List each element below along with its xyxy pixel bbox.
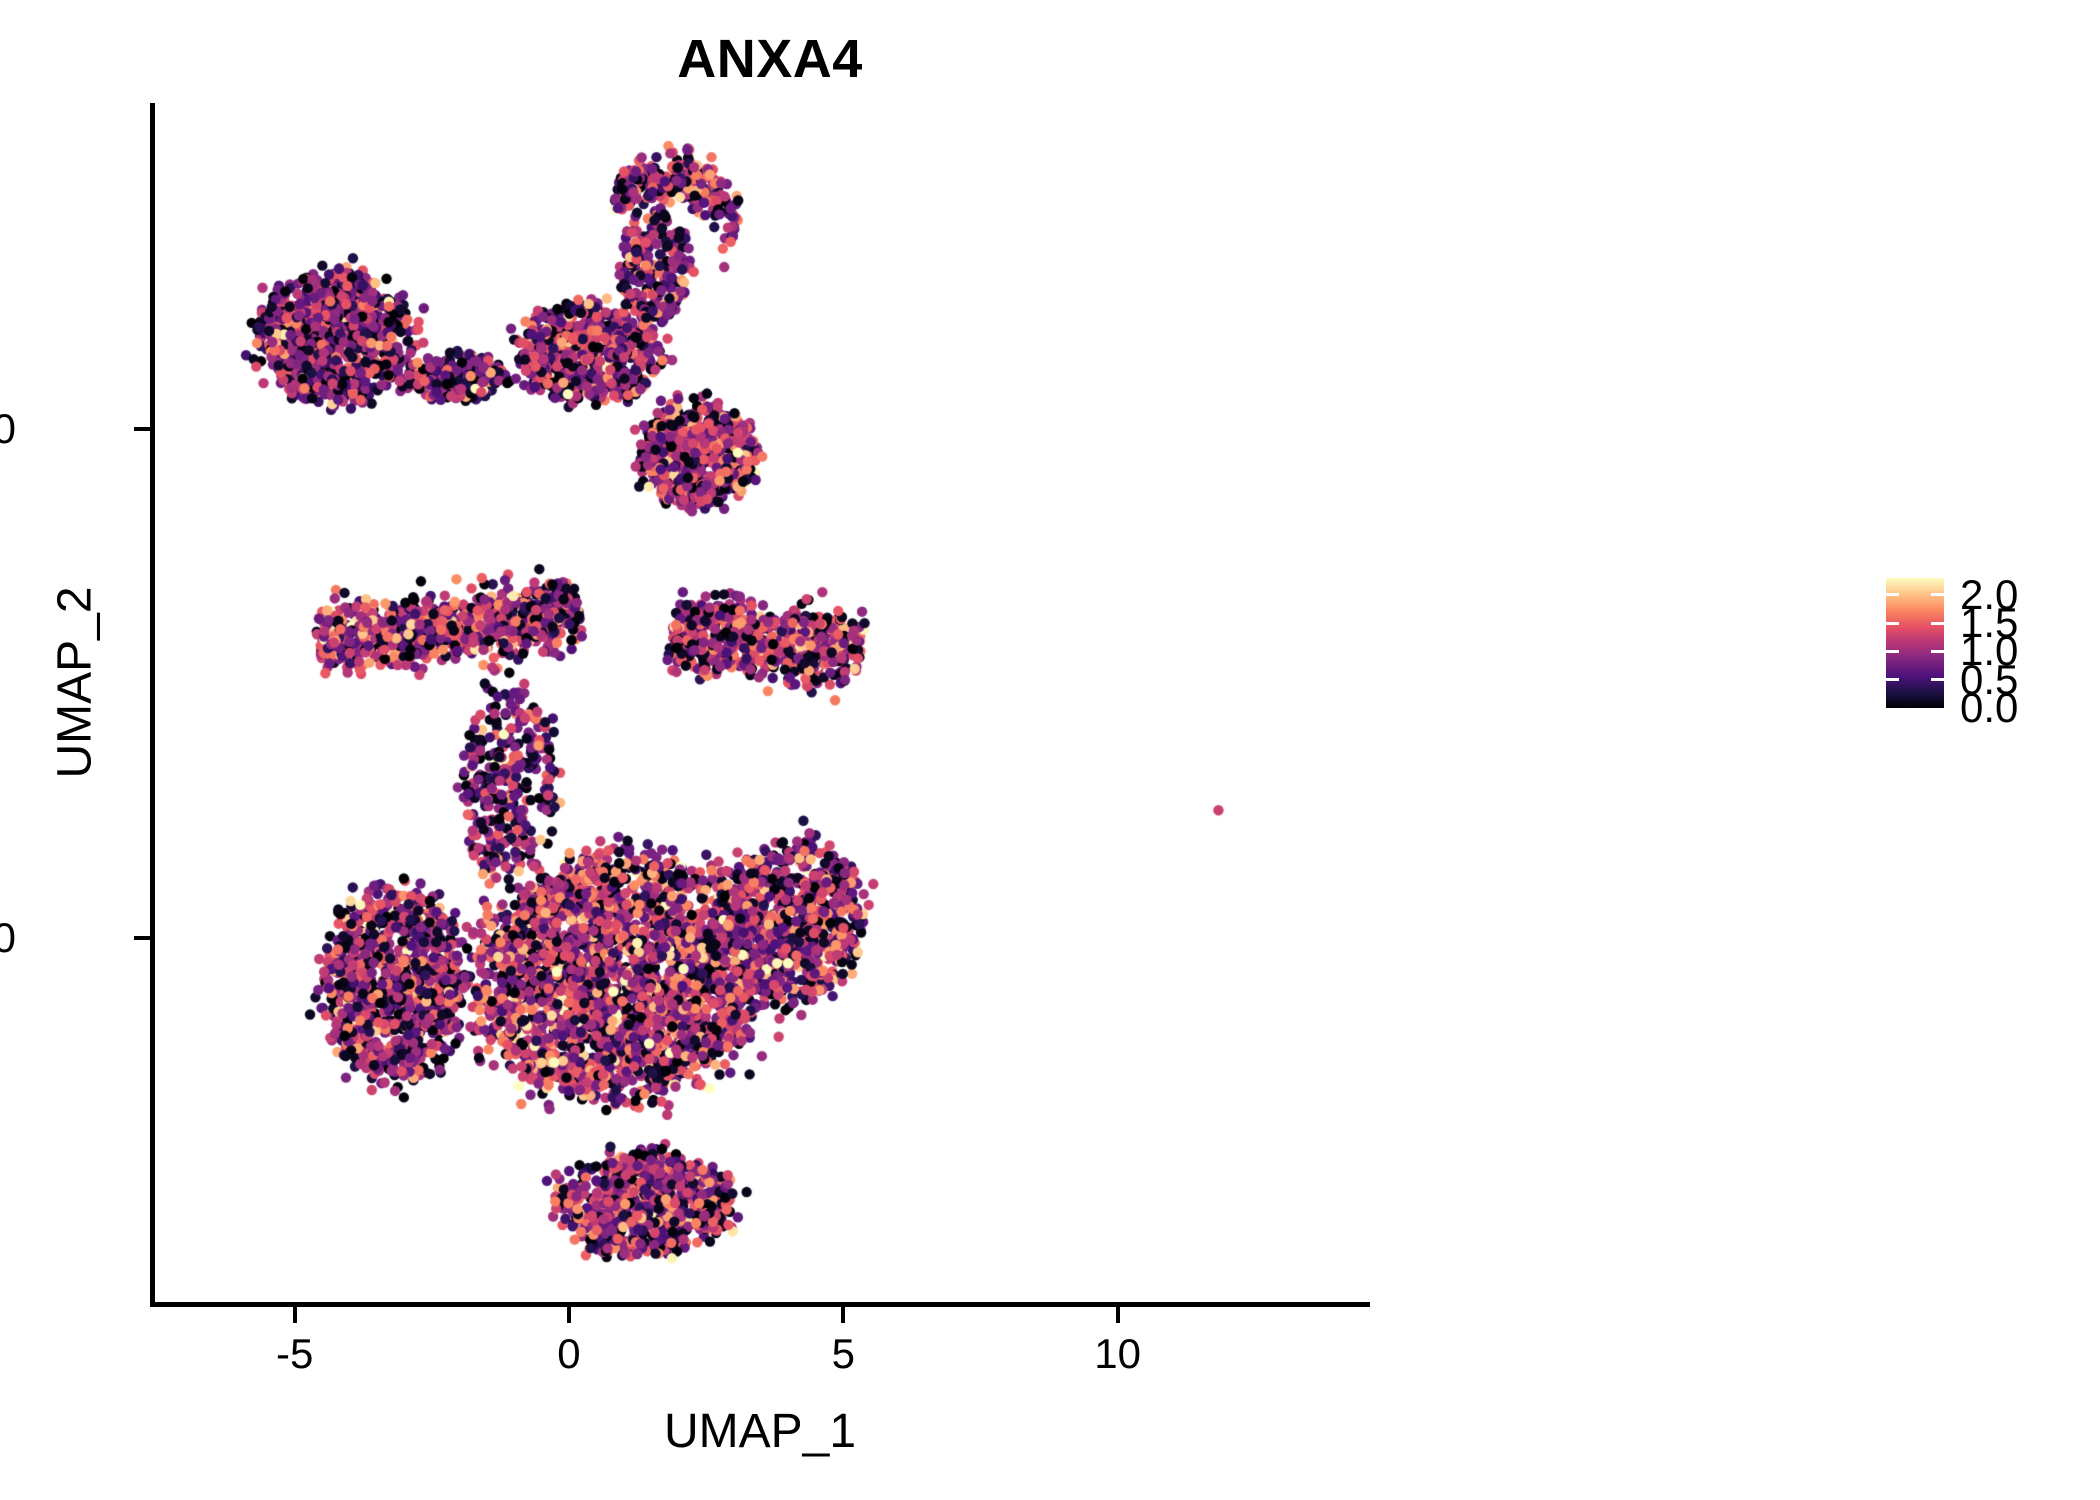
x-tick-label: 10 [1094, 1330, 1141, 1378]
colorbar-tick-mark [1931, 678, 1944, 681]
x-tick-label: 0 [557, 1330, 580, 1378]
x-axis-title: UMAP_1 [150, 1404, 1370, 1459]
x-tick-label: 5 [832, 1330, 855, 1378]
colorbar-tick-mark [1886, 593, 1899, 596]
colorbar-tick-mark [1931, 593, 1944, 596]
colorbar-tick-label: 0.0 [1960, 684, 2018, 732]
color-legend: 2.01.51.00.50.0 [1886, 578, 2076, 708]
x-tick-label: -5 [276, 1330, 313, 1378]
y-axis-title: UMAP_2 [48, 403, 103, 963]
y-tick-mark [134, 427, 150, 431]
y-axis-line [150, 103, 155, 1305]
x-tick-mark [293, 1307, 297, 1323]
x-tick-mark [567, 1307, 571, 1323]
page-title: ANXA4 [0, 28, 1540, 90]
scatter-points-layer [152, 103, 1370, 1305]
scatter-plot-panel [152, 103, 1370, 1305]
x-tick-mark [841, 1307, 845, 1323]
colorbar-tick-mark [1931, 622, 1944, 625]
x-axis-line [150, 1302, 1370, 1307]
colorbar-tick-mark [1886, 622, 1899, 625]
y-tick-label: 0 [0, 914, 16, 962]
colorbar-tick-mark [1886, 678, 1899, 681]
colorbar-gradient [1886, 578, 1944, 708]
colorbar-tick-mark [1931, 650, 1944, 653]
y-tick-mark [134, 936, 150, 940]
colorbar-tick-mark [1886, 650, 1899, 653]
x-tick-mark [1116, 1307, 1120, 1323]
umap-feature-plot: ANXA4 -50510 100 UMAP_1 UMAP_2 2.01.51.0… [0, 0, 2100, 1500]
y-tick-label: 10 [0, 405, 16, 453]
